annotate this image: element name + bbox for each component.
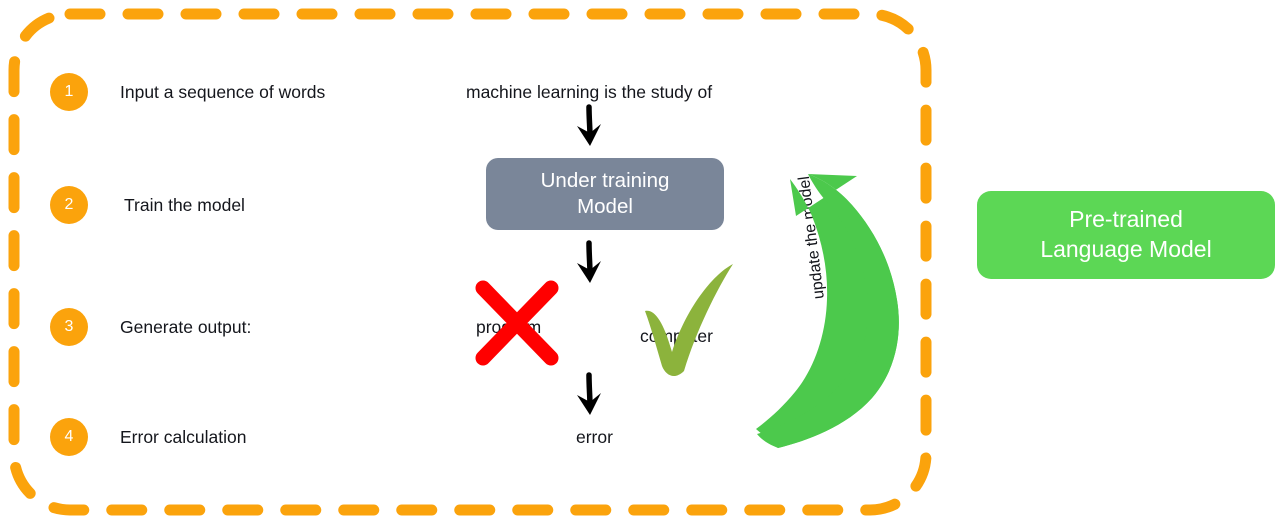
pretrained-language-model-box: Pre-trained Language Model xyxy=(977,191,1275,279)
step-row-3: 3 Generate output: xyxy=(50,307,251,347)
under-training-model-box: Under training Model xyxy=(486,158,724,230)
step-number-badge: 2 xyxy=(50,186,88,224)
error-text: error xyxy=(576,427,613,448)
model-box-line-2: Model xyxy=(541,194,670,220)
step-label: Train the model xyxy=(124,195,245,216)
update-the-model-label: update the model xyxy=(796,175,829,300)
step-row-4: 4 Error calculation xyxy=(50,417,246,457)
step-number-badge: 1 xyxy=(50,73,88,111)
step-number-badge: 4 xyxy=(50,418,88,456)
correct-output-text: computer xyxy=(640,326,713,347)
step-number-badge: 3 xyxy=(50,308,88,346)
wrong-output-text: program xyxy=(476,317,541,338)
flow-arrow-down-2 xyxy=(577,243,601,283)
pretrained-box-line-1: Pre-trained xyxy=(1040,205,1211,235)
step-row-2: 2 Train the model xyxy=(50,185,245,225)
input-sequence-text: machine learning is the study of xyxy=(466,82,712,103)
update-model-arrow-icon xyxy=(756,174,899,448)
step-label: Error calculation xyxy=(120,427,246,448)
diagram-canvas: 1 Input a sequence of words 2 Train the … xyxy=(0,0,1280,532)
step-row-1: 1 Input a sequence of words xyxy=(50,72,325,112)
flow-arrow-down-1 xyxy=(577,107,601,146)
pretrained-box-line-2: Language Model xyxy=(1040,235,1211,265)
step-label: Input a sequence of words xyxy=(120,82,325,103)
model-box-line-1: Under training xyxy=(541,168,670,194)
flow-arrow-down-3 xyxy=(577,375,601,415)
step-label: Generate output: xyxy=(120,317,251,338)
check-mark-icon xyxy=(645,264,733,376)
